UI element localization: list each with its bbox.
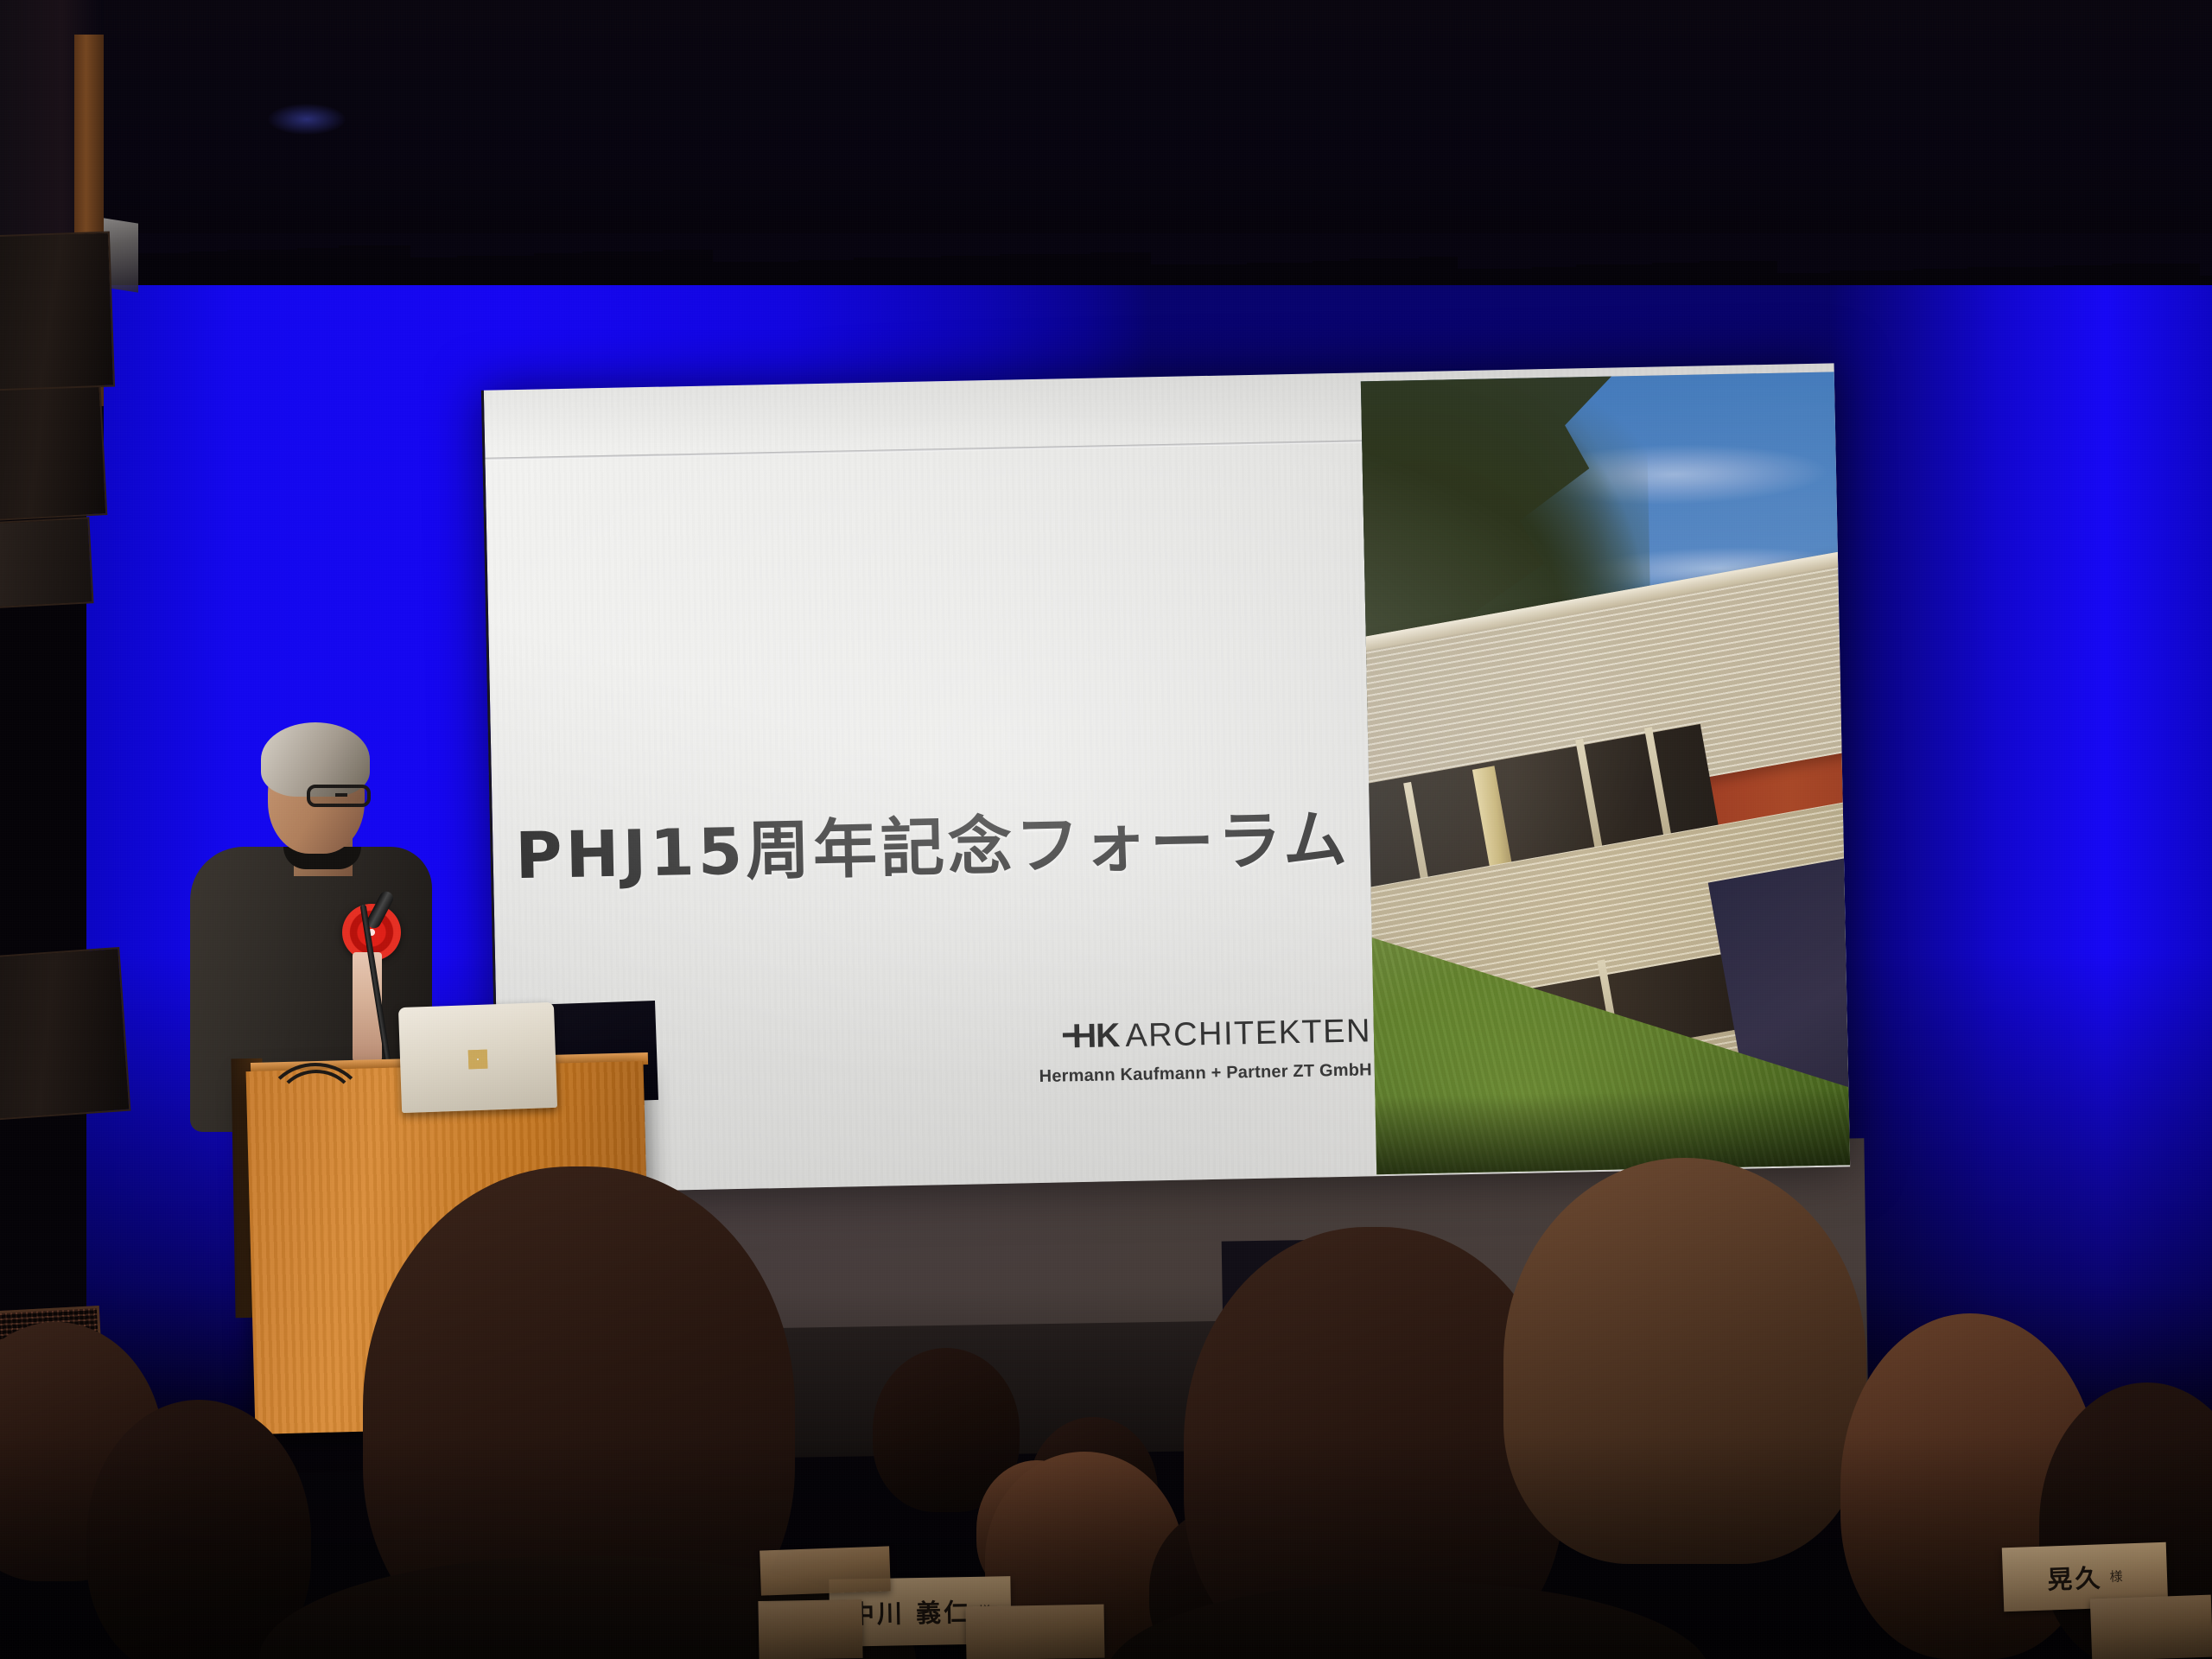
microsoft-logo-icon xyxy=(468,1050,488,1070)
screen-vignette xyxy=(484,363,1850,1193)
screen-surface: PHJ15周年記念フォーラム HK ARCHITEKTEN Hermann Ka… xyxy=(481,363,1850,1193)
pa-speaker-cabinet xyxy=(0,368,107,522)
placard-honorific: 様 xyxy=(2109,1567,2123,1586)
pa-speaker-cabinet xyxy=(0,517,94,610)
audience-head-with-hat xyxy=(1503,1158,1866,1564)
presenter-laptop[interactable] xyxy=(398,1002,557,1113)
seat-name-placard-blank xyxy=(965,1605,1104,1659)
placard-name-text: 晃久 xyxy=(2047,1558,2103,1596)
seat-name-placard-blank xyxy=(760,1546,891,1595)
projection-screen: PHJ15周年記念フォーラム HK ARCHITEKTEN Hermann Ka… xyxy=(481,363,1850,1193)
audience-head xyxy=(86,1400,311,1659)
placard-name-text: 中川 義仁 xyxy=(849,1592,972,1630)
seat-name-placard-blank xyxy=(758,1599,862,1659)
pa-speaker-stack xyxy=(0,372,181,1063)
pa-speaker-cabinet xyxy=(0,947,130,1122)
curtain-scallop-edge xyxy=(86,233,2212,285)
conference-hall-scene: PHJ15周年記念フォーラム HK ARCHITEKTEN Hermann Ka… xyxy=(0,0,2212,1659)
presenter-glasses xyxy=(307,785,371,807)
podium-cable xyxy=(275,1070,358,1147)
ceiling-light-glow xyxy=(268,104,346,135)
seat-name-placard-blank xyxy=(2090,1595,2212,1659)
pa-speaker-cabinet xyxy=(0,232,115,391)
